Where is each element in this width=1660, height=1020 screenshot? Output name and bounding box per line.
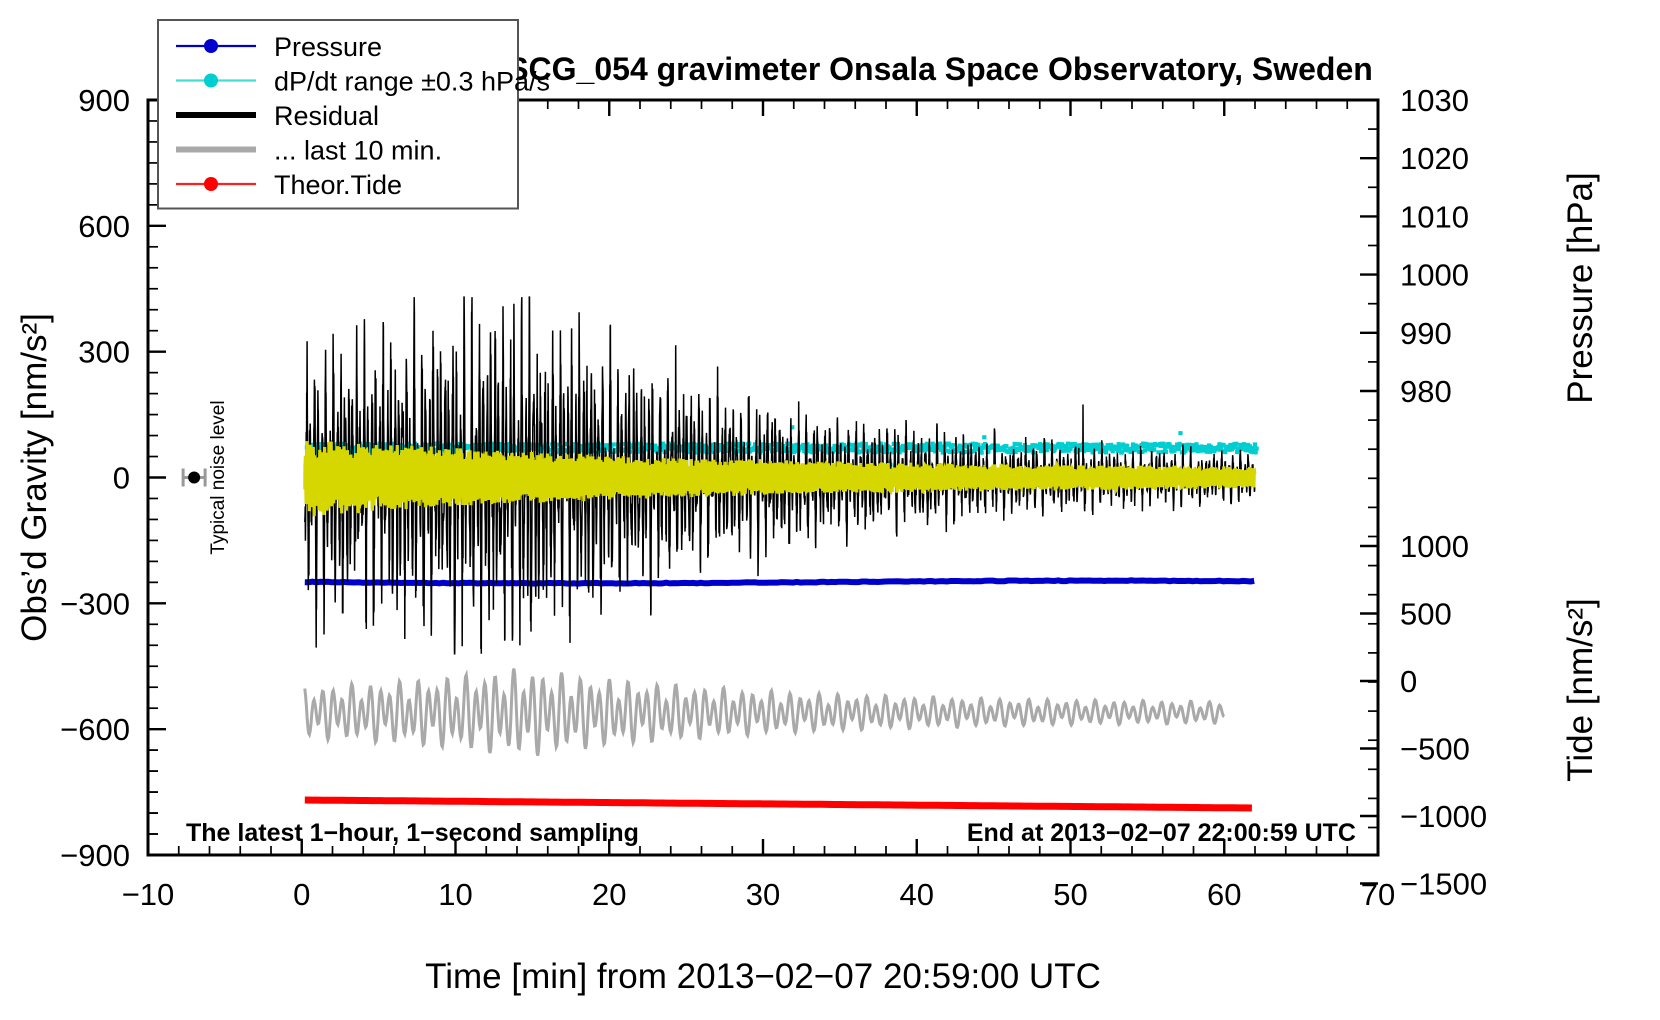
tide-tick-label: 1000 xyxy=(1400,529,1469,564)
pressure-tick-label: 1000 xyxy=(1400,258,1469,293)
legend-marker xyxy=(204,74,218,88)
pressure-axis-title: Pressure [hPa] xyxy=(1561,172,1600,404)
annotation-bottom-right: End at 2013−02−07 22:00:59 UTC xyxy=(967,819,1356,847)
legend-marker xyxy=(204,39,218,53)
x-tick-label: 40 xyxy=(900,877,934,912)
dpdt-point xyxy=(948,450,952,454)
y-tick-label: −300 xyxy=(60,586,130,621)
noise-level-marker xyxy=(183,469,205,487)
legend-label: dP/dt range ±0.3 hPa/s xyxy=(274,67,550,97)
x-tick-label: 0 xyxy=(293,877,310,912)
pressure-tick-label: 1010 xyxy=(1400,199,1469,234)
x-tick-label: −10 xyxy=(122,877,175,912)
legend-label: Residual xyxy=(274,101,379,131)
x-tick-label: 10 xyxy=(438,877,472,912)
y-tick-label: 900 xyxy=(78,83,130,118)
x-tick-label: 50 xyxy=(1053,877,1087,912)
pressure-tick-label: 980 xyxy=(1400,374,1452,409)
tide-tick-label: 0 xyxy=(1400,664,1417,699)
gravimeter-chart: −10010203040506070Time [min] from 2013−0… xyxy=(0,0,1660,1020)
x-tick-label: 20 xyxy=(592,877,626,912)
chart-title: SCG_054 gravimeter Onsala Space Observat… xyxy=(507,51,1373,87)
x-tick-label: 60 xyxy=(1207,877,1241,912)
dpdt-point xyxy=(1111,449,1115,453)
pressure-tick-label: 1020 xyxy=(1400,141,1469,176)
x-tick-label: 70 xyxy=(1361,877,1395,912)
annotation-bottom-left: The latest 1−hour, 1−second sampling xyxy=(186,819,639,847)
dpdt-point xyxy=(1254,450,1258,454)
legend: PressuredP/dt range ±0.3 hPa/sResidual..… xyxy=(158,20,550,209)
figure-canvas: −10010203040506070Time [min] from 2013−0… xyxy=(0,0,1660,1020)
y-tick-label: −600 xyxy=(60,712,130,747)
tide-tick-label: −1500 xyxy=(1400,867,1487,902)
legend-label: Pressure xyxy=(274,32,382,62)
pressure-tick-label: 990 xyxy=(1400,316,1452,351)
pressure-tick-label: 1030 xyxy=(1400,83,1469,118)
dpdt-point xyxy=(1178,431,1182,435)
dpdt-point xyxy=(976,443,980,447)
dpdt-point xyxy=(1234,442,1238,446)
dpdt-point xyxy=(980,451,984,455)
legend-marker xyxy=(204,177,218,191)
tide-tick-label: 500 xyxy=(1400,597,1452,632)
dpdt-point xyxy=(1104,450,1108,454)
y-tick-label: 300 xyxy=(78,335,130,370)
pressure-trace xyxy=(305,580,1254,583)
y-left-axis-title: Obs’d Gravity [nm/s²] xyxy=(15,313,54,642)
x-tick-label: 30 xyxy=(746,877,780,912)
legend-label: ... last 10 min. xyxy=(274,136,442,166)
dpdt-point xyxy=(1004,444,1008,448)
noise-level-label: Typical noise level xyxy=(208,400,229,554)
dpdt-point xyxy=(1152,448,1156,452)
y-tick-label: −900 xyxy=(60,838,130,873)
tide-tick-label: −1000 xyxy=(1400,799,1487,834)
dpdt-point xyxy=(1255,446,1259,450)
dpdt-point xyxy=(982,435,986,439)
dpdt-point xyxy=(1253,442,1257,446)
theor-tide-trace xyxy=(305,800,1252,808)
tide-tick-label: −500 xyxy=(1400,732,1470,767)
legend-label: Theor.Tide xyxy=(274,170,402,200)
y-tick-label: 0 xyxy=(113,461,130,496)
x-axis-title: Time [min] from 2013−02−07 20:59:00 UTC xyxy=(425,957,1101,996)
y-tick-label: 600 xyxy=(78,209,130,244)
y-left-axis: 9006003000−300−600−900 xyxy=(60,83,166,873)
dpdt-point xyxy=(951,443,955,447)
tide-axis-title: Tide [nm/s²] xyxy=(1561,598,1600,781)
noise-point xyxy=(188,472,200,484)
last10min-trace xyxy=(305,669,1224,756)
